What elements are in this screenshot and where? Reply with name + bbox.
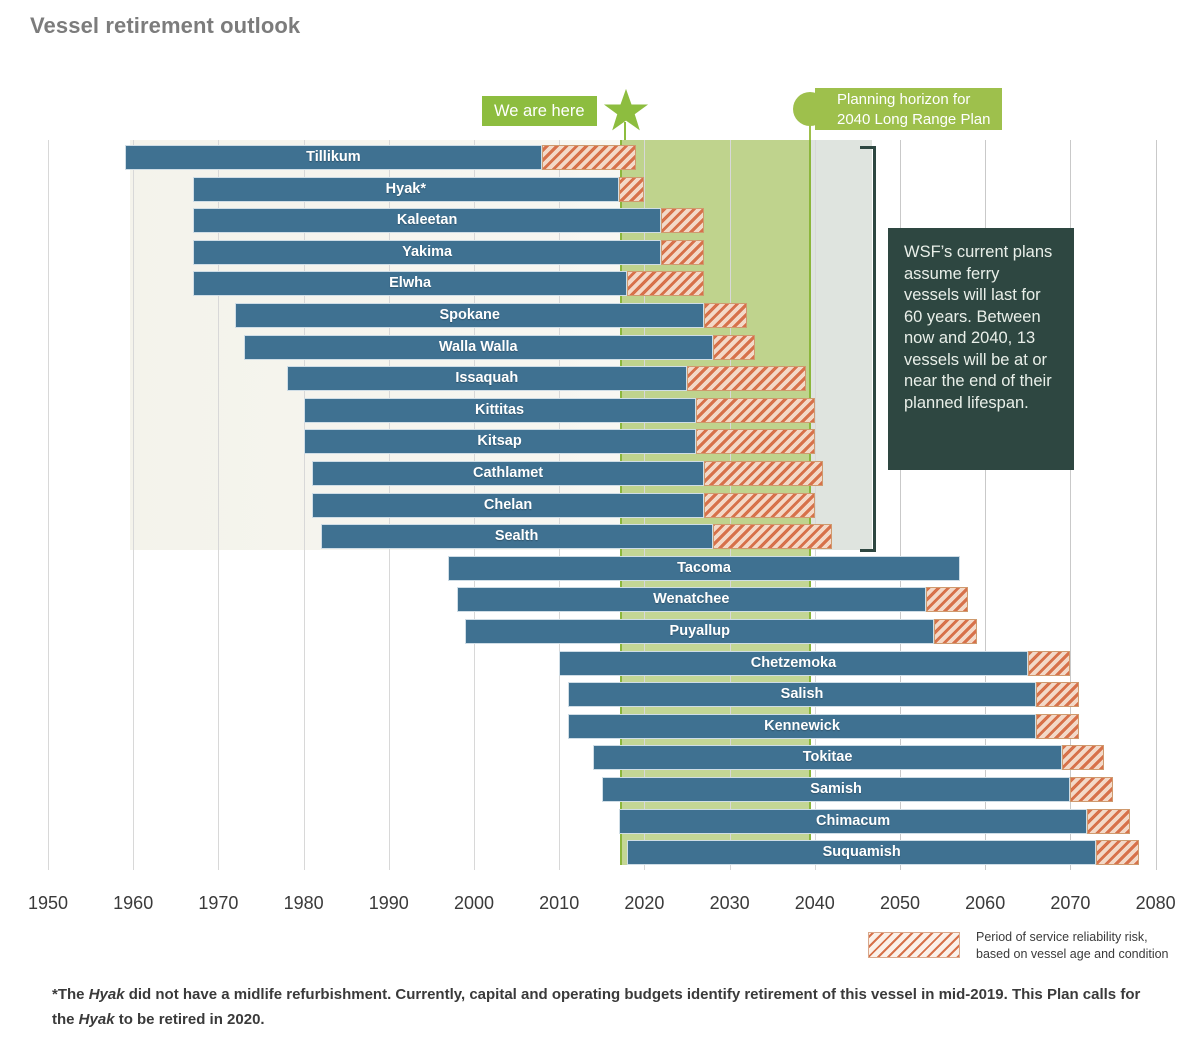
- bar-row[interactable]: Chimacum: [0, 806, 1198, 836]
- we-are-here-label: We are here: [494, 102, 585, 120]
- bar-row[interactable]: Samish: [0, 774, 1198, 804]
- bracket-13-vessels: [860, 146, 876, 552]
- legend: Period of service reliability risk, base…: [868, 929, 1188, 969]
- x-axis-labels: 1950196019701980199020002010202020302040…: [0, 893, 1198, 917]
- planning-horizon-label-line1: Planning horizon for: [837, 90, 990, 110]
- x-tick-2080: 2080: [1116, 893, 1196, 914]
- bar-reliability-risk[interactable]: [1087, 809, 1130, 834]
- bar-service-life[interactable]: [602, 777, 1071, 802]
- bar-service-life[interactable]: [312, 461, 704, 486]
- x-tick-1980: 1980: [264, 893, 344, 914]
- bar-row[interactable]: Salish: [0, 679, 1198, 709]
- footnote-italic-1: Hyak: [89, 986, 125, 1003]
- x-tick-2050: 2050: [860, 893, 940, 914]
- x-tick-2030: 2030: [690, 893, 770, 914]
- bar-service-life[interactable]: [287, 366, 687, 391]
- bar-reliability-risk[interactable]: [713, 335, 756, 360]
- bar-reliability-risk[interactable]: [696, 398, 815, 423]
- x-tick-2010: 2010: [519, 893, 599, 914]
- bar-reliability-risk[interactable]: [542, 145, 636, 170]
- bar-row[interactable]: Tillikum: [0, 142, 1198, 172]
- bar-service-life[interactable]: [465, 619, 934, 644]
- bar-service-life[interactable]: [593, 745, 1062, 770]
- bar-service-life[interactable]: [304, 429, 696, 454]
- x-tick-2020: 2020: [604, 893, 684, 914]
- x-tick-1950: 1950: [8, 893, 88, 914]
- x-tick-2060: 2060: [945, 893, 1025, 914]
- bar-reliability-risk[interactable]: [661, 240, 704, 265]
- bar-row[interactable]: Hyak*: [0, 174, 1198, 204]
- bar-reliability-risk[interactable]: [1096, 840, 1139, 865]
- legend-label-risk: Period of service reliability risk, base…: [976, 929, 1191, 963]
- bar-reliability-risk[interactable]: [713, 524, 832, 549]
- x-tick-1990: 1990: [349, 893, 429, 914]
- bar-service-life[interactable]: [457, 587, 926, 612]
- bar-service-life[interactable]: [193, 177, 619, 202]
- star-icon: [603, 88, 649, 134]
- bar-row[interactable]: Tacoma: [0, 553, 1198, 583]
- bar-service-life[interactable]: [193, 271, 628, 296]
- bar-reliability-risk[interactable]: [1062, 745, 1105, 770]
- bar-reliability-risk[interactable]: [1070, 777, 1113, 802]
- planning-horizon-label-line2: 2040 Long Range Plan: [837, 110, 990, 130]
- bar-reliability-risk[interactable]: [687, 366, 806, 391]
- bar-reliability-risk[interactable]: [926, 587, 969, 612]
- bar-service-life[interactable]: [627, 840, 1096, 865]
- bar-reliability-risk[interactable]: [1036, 682, 1079, 707]
- footnote-italic-2: Hyak: [79, 1011, 115, 1028]
- bar-service-life[interactable]: [568, 682, 1037, 707]
- bar-reliability-risk[interactable]: [934, 619, 977, 644]
- bar-service-life[interactable]: [448, 556, 959, 581]
- bar-row[interactable]: Kennewick: [0, 711, 1198, 741]
- legend-label-line2: based on vessel age and condition: [976, 946, 1191, 963]
- bar-row[interactable]: Wenatchee: [0, 584, 1198, 614]
- we-are-here-callout: We are here: [482, 96, 597, 126]
- bar-service-life[interactable]: [559, 651, 1028, 676]
- x-tick-1970: 1970: [178, 893, 258, 914]
- bar-service-life[interactable]: [244, 335, 713, 360]
- bar-service-life[interactable]: [235, 303, 704, 328]
- footnote: *The Hyak did not have a midlife refurbi…: [52, 982, 1142, 1032]
- bar-reliability-risk[interactable]: [1036, 714, 1079, 739]
- bar-service-life[interactable]: [619, 809, 1088, 834]
- footnote-part-3: to be retired in 2020.: [115, 1011, 265, 1028]
- legend-swatch-risk: [868, 932, 960, 958]
- bar-row[interactable]: Tokitae: [0, 742, 1198, 772]
- bar-reliability-risk[interactable]: [704, 461, 823, 486]
- bar-service-life[interactable]: [193, 208, 662, 233]
- bar-reliability-risk[interactable]: [1028, 651, 1071, 676]
- bar-reliability-risk[interactable]: [661, 208, 704, 233]
- x-tick-2000: 2000: [434, 893, 514, 914]
- bar-reliability-risk[interactable]: [627, 271, 704, 296]
- footnote-part-1: *The: [52, 986, 89, 1003]
- bar-reliability-risk[interactable]: [619, 177, 645, 202]
- bar-service-life[interactable]: [304, 398, 696, 423]
- legend-label-line1: Period of service reliability risk,: [976, 929, 1191, 946]
- bar-service-life[interactable]: [193, 240, 662, 265]
- planning-horizon-callout: Planning horizon for 2040 Long Range Pla…: [815, 88, 1002, 130]
- x-tick-2070: 2070: [1030, 893, 1110, 914]
- chart-canvas: We are here Planning horizon for 2040 Lo…: [0, 0, 1198, 1054]
- bar-reliability-risk[interactable]: [704, 303, 747, 328]
- bar-row[interactable]: Chetzemoka: [0, 648, 1198, 678]
- bar-service-life[interactable]: [568, 714, 1037, 739]
- bar-reliability-risk[interactable]: [704, 493, 815, 518]
- bar-row[interactable]: Puyallup: [0, 616, 1198, 646]
- x-tick-2040: 2040: [775, 893, 855, 914]
- bar-row[interactable]: Suquamish: [0, 837, 1198, 867]
- bar-service-life[interactable]: [321, 524, 713, 549]
- bar-row[interactable]: Sealth: [0, 521, 1198, 551]
- x-tick-1960: 1960: [93, 893, 173, 914]
- wsf-assumption-callout: WSF’s current plans assume ferry vessels…: [888, 228, 1074, 470]
- bar-reliability-risk[interactable]: [696, 429, 815, 454]
- bar-service-life[interactable]: [125, 145, 542, 170]
- bar-row[interactable]: Chelan: [0, 490, 1198, 520]
- bar-service-life[interactable]: [312, 493, 704, 518]
